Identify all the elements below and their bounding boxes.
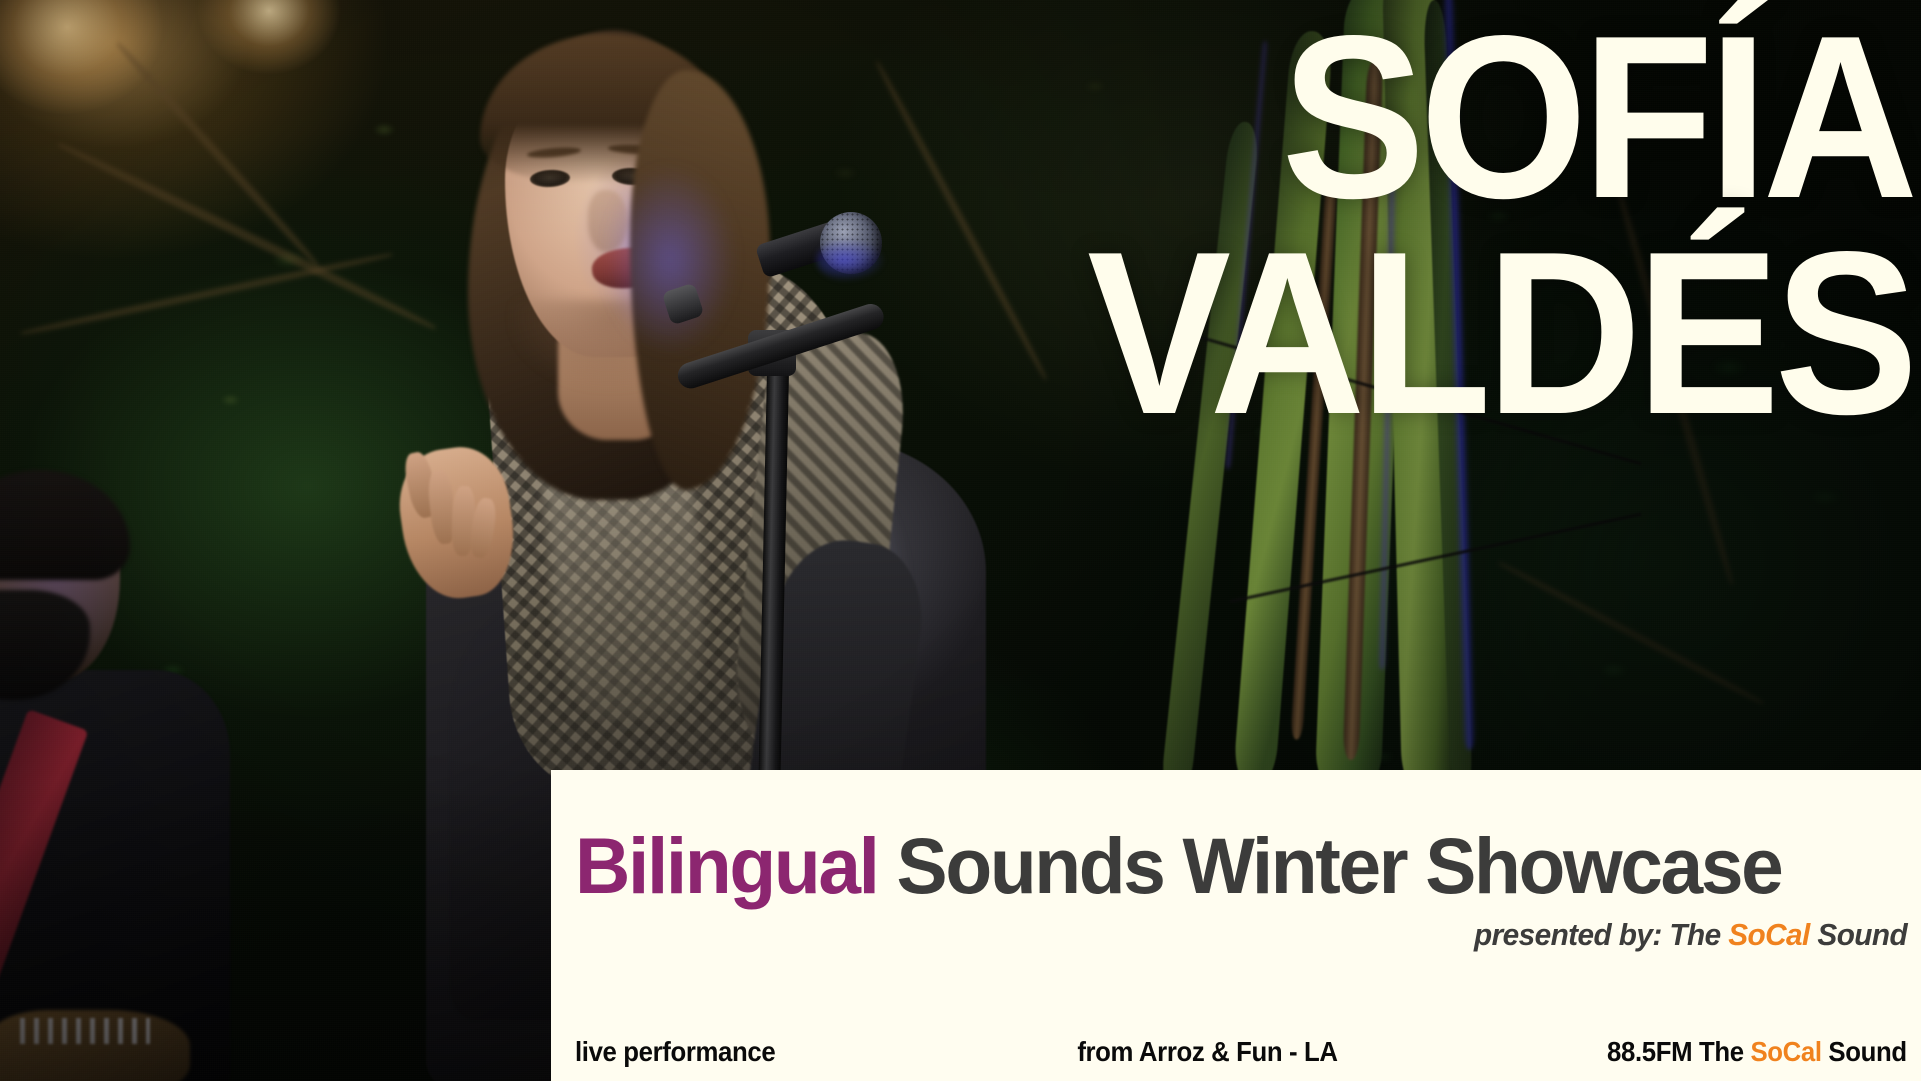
guitar-tuners xyxy=(20,1018,150,1044)
microphone-blue-light xyxy=(816,238,886,282)
footer-station-prefix: 88.5FM The xyxy=(1607,1036,1750,1067)
guitarist xyxy=(0,470,260,1081)
footer-station: 88.5FM The SoCal Sound xyxy=(1607,1036,1907,1068)
presented-by-brand: SoCal xyxy=(1728,917,1809,952)
footer-station-brand: SoCal xyxy=(1751,1036,1822,1067)
footer-right: 88.5FM The SoCal Sound xyxy=(1581,1036,1907,1068)
info-card: Bilingual Sounds Winter Showcase present… xyxy=(551,770,1921,1081)
footer-left-label: live performance xyxy=(575,1036,775,1068)
blue-stage-light xyxy=(610,150,760,370)
presented-by-suffix: Sound xyxy=(1810,917,1907,952)
guitarist-hair xyxy=(0,470,130,580)
footer-row: live performance from Arroz & Fun - LA 8… xyxy=(575,1036,1907,1068)
showcase-title-highlight: Bilingual xyxy=(575,821,878,910)
footer-middle: from Arroz & Fun - LA xyxy=(793,1036,1582,1068)
showcase-title-rest: Sounds Winter Showcase xyxy=(878,821,1782,910)
footer-station-suffix: Sound xyxy=(1822,1036,1907,1067)
presented-by-prefix: presented by: The xyxy=(1474,917,1728,952)
showcase-title: Bilingual Sounds Winter Showcase xyxy=(575,826,1867,905)
presented-by-line: presented by: The SoCal Sound xyxy=(1474,917,1907,953)
footer-venue-label: from Arroz & Fun - LA xyxy=(1077,1036,1337,1068)
screenshot-root: SOFÍA VALDÉS Bilingual Sounds Winter Sho… xyxy=(0,0,1921,1081)
footer-left: live performance xyxy=(575,1036,793,1068)
